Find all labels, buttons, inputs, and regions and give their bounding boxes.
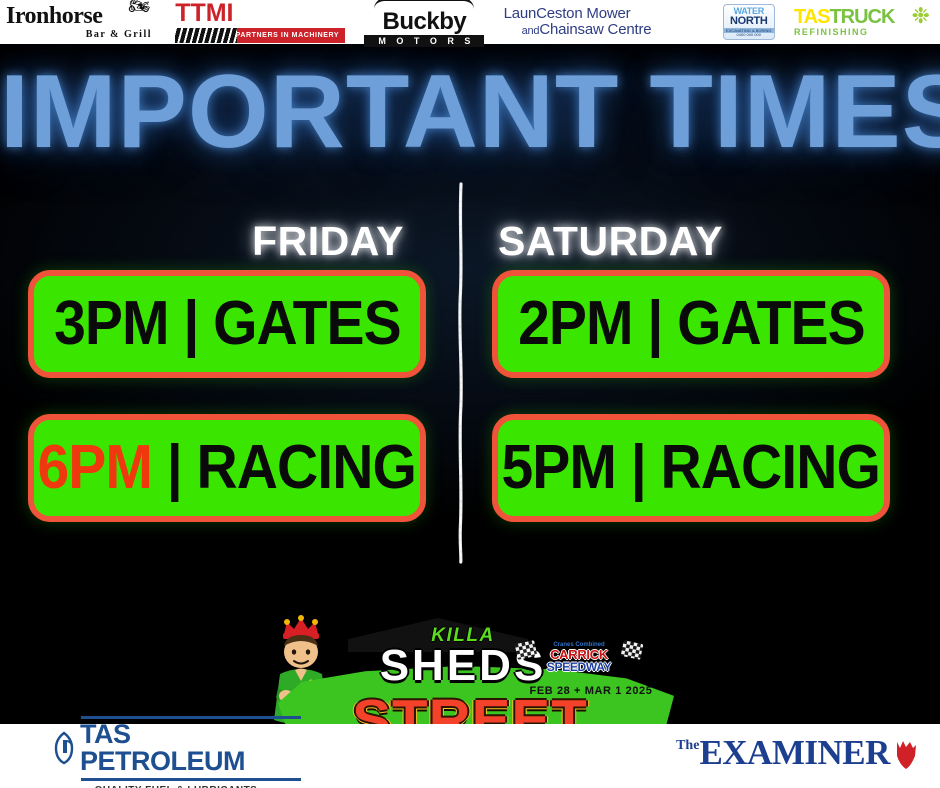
sponsor-logo-tas-truck-refinishing[interactable]: ❉ TASTRUCK REFINISHING [794, 1, 934, 43]
examiner-the-text: The [676, 739, 699, 753]
lmc-line-2-text: Chainsaw Centre [539, 21, 651, 38]
page-title: IMPORTANT TIMES [0, 60, 940, 164]
sponsor-logo-water-north[interactable]: WATER NORTH EXCAVATING & BORING 0400 000… [723, 1, 775, 43]
ttmi-tagline: PARTNERS IN MACHINERY [236, 32, 346, 39]
sponsor-logo-tas-petroleum[interactable]: TAS PETROLEUM QUALITY FUEL & LUBRICANTS [0, 724, 352, 788]
column-divider [456, 182, 466, 564]
time-label: GATES [213, 293, 401, 355]
lmc-line-1: LaunCeston Mower [504, 6, 704, 22]
buckby-name: Buckby [364, 10, 484, 34]
sponsor-logo-buckby-motors[interactable]: Buckby M O T O R S [364, 1, 484, 43]
tastruck-tas: TAS [794, 6, 830, 28]
time-box-friday-racing[interactable]: 6PM | RACING [28, 414, 426, 522]
ttmi-banner: PARTNERS IN MACHINERY [175, 28, 345, 43]
sponsor-logo-the-examiner[interactable]: The EXAMINER [655, 724, 940, 788]
time-value: 3PM [54, 293, 169, 355]
time-separator: | [152, 437, 196, 499]
paint-splat-icon: ❉ [912, 5, 930, 27]
time-value: 6PM [38, 437, 153, 499]
motorcycle-icon: 🏍 [128, 0, 150, 14]
time-label: RACING [661, 437, 880, 499]
carrick-speedway-badge: Cranes Combined CARRICK SPEEDWAY [520, 642, 638, 673]
buckby-subtitle: M O T O R S [364, 35, 484, 47]
bottom-sponsor-bar: TAS PETROLEUM QUALITY FUEL & LUBRICANTS … [0, 724, 940, 788]
time-separator: | [616, 437, 660, 499]
schedule-column-friday: FRIDAY 3PM | GATES 6PM | RACING [28, 212, 426, 558]
tastruck-truck: TRUCK [829, 6, 894, 28]
examiner-name: EXAMINER [699, 737, 889, 769]
poster-root: 🏍 Ironhorse Bar & Grill TTMI PARTNERS IN… [0, 0, 940, 788]
lmc-and: and [522, 25, 540, 37]
tas-petroleum-name: TAS PETROLEUM [80, 721, 301, 775]
lmc-line-2: andChainsaw Centre [504, 22, 704, 38]
sponsor-logo-launceston-mower[interactable]: LaunCeston Mower andChainsaw Centre [504, 1, 704, 43]
ttmi-name: TTMI [175, 1, 345, 26]
time-separator: | [168, 293, 212, 355]
time-box-friday-gates[interactable]: 3PM | GATES [28, 270, 426, 378]
tasmania-map-icon [893, 739, 919, 776]
time-box-saturday-racing[interactable]: 5PM | RACING [492, 414, 890, 522]
waternorth-line-2: NORTH [730, 16, 768, 27]
schedule-column-saturday: SATURDAY 2PM | GATES 5PM | RACING [492, 212, 890, 558]
rule-line [81, 778, 301, 781]
time-box-saturday-gates[interactable]: 2PM | GATES [492, 270, 890, 378]
day-label-saturday: SATURDAY [492, 212, 890, 270]
time-label: GATES [677, 293, 865, 355]
day-label-friday: FRIDAY [28, 212, 426, 270]
rays-icon [175, 28, 237, 43]
speedway-word-text: SPEEDWAY [520, 661, 638, 673]
sponsor-logo-ttmi[interactable]: TTMI PARTNERS IN MACHINERY [175, 1, 345, 43]
ironhorse-tagline: Bar & Grill [6, 29, 156, 40]
fuel-nozzle-icon [51, 731, 77, 765]
tastruck-subtitle: REFINISHING [794, 28, 934, 37]
time-separator: | [632, 293, 676, 355]
waternorth-phone: 0400 000 000 [737, 33, 761, 38]
time-value: 5PM [502, 437, 617, 499]
top-sponsor-bar: 🏍 Ironhorse Bar & Grill TTMI PARTNERS IN… [0, 0, 940, 44]
time-label: RACING [197, 437, 416, 499]
sponsor-logo-ironhorse[interactable]: 🏍 Ironhorse Bar & Grill [6, 1, 156, 43]
time-value: 2PM [518, 293, 633, 355]
bottom-bar-strip [352, 724, 655, 788]
